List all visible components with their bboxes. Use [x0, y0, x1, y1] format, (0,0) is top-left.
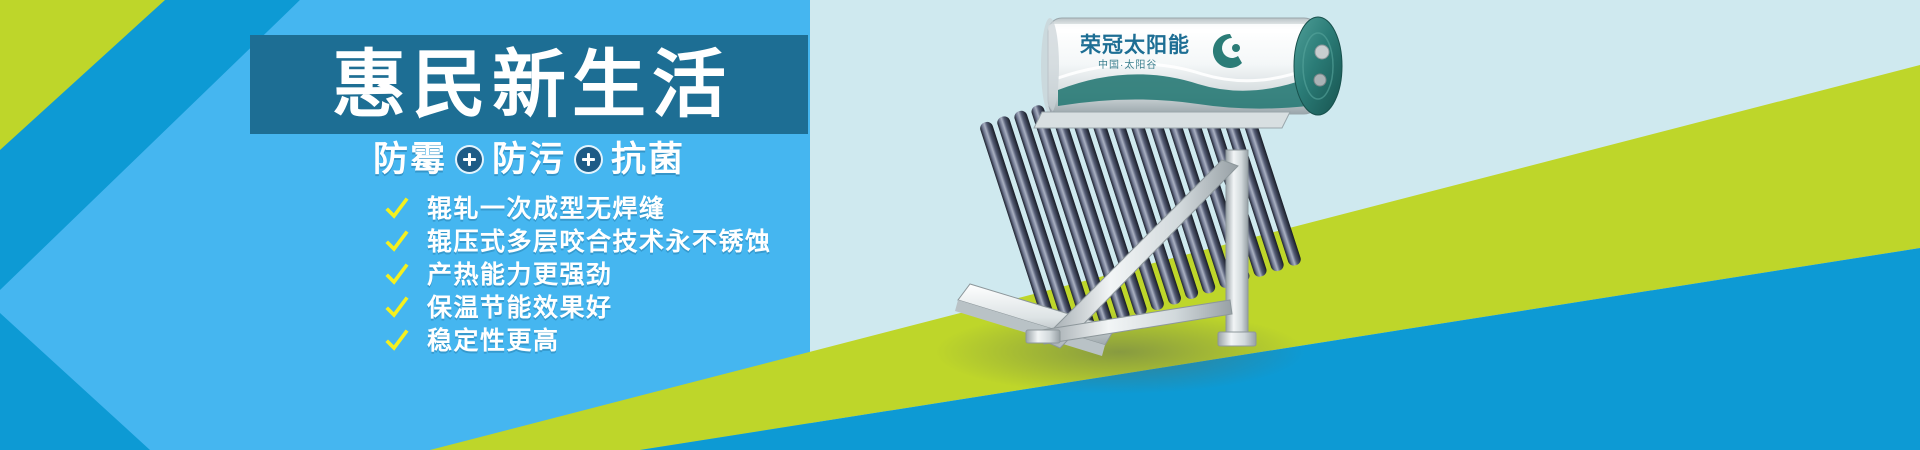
feature-label: 稳定性更高 — [427, 329, 560, 354]
list-item: 辊压式多层咬合技术永不锈蚀 — [385, 226, 772, 258]
promo-banner: 惠民新生活 防霉 防污 抗菌 辊轧一次成型无焊缝 辊压式多层咬合技术永不锈蚀 产… — [0, 0, 1920, 450]
title-panel: 惠民新生活 — [250, 35, 808, 134]
list-item: 保温节能效果好 — [385, 292, 772, 324]
check-icon — [385, 263, 409, 287]
tank-brand-text: 荣冠太阳能 — [1079, 33, 1190, 57]
tank-port-icon — [1315, 45, 1329, 59]
plus-circle-icon — [457, 147, 482, 172]
manifold-strip — [1034, 112, 1290, 128]
subtitle-row: 防霉 防污 抗菌 — [250, 142, 808, 177]
subtitle-word-3: 抗菌 — [611, 142, 685, 177]
check-icon — [385, 230, 409, 254]
page-title: 惠民新生活 — [326, 48, 732, 122]
feature-list: 辊轧一次成型无焊缝 辊压式多层咬合技术永不锈蚀 产热能力更强劲 保温节能效果好 — [385, 193, 772, 358]
check-icon — [385, 329, 409, 353]
water-tank: 荣冠太阳能 中国·太阳谷 — [1041, 17, 1342, 115]
subtitle-word-2: 防污 — [492, 142, 566, 177]
check-icon — [385, 296, 409, 320]
product-image: 荣冠太阳能 中国·太阳谷 — [930, 0, 1490, 450]
plus-circle-icon — [576, 147, 601, 172]
tank-sub-text: 中国·太阳谷 — [1098, 58, 1157, 71]
shape-blue-top-strip — [260, 0, 810, 40]
subtitle-word-1: 防霉 — [373, 142, 447, 177]
tank-end-cap — [1294, 17, 1342, 115]
feature-label: 保温节能效果好 — [427, 296, 613, 321]
feature-label: 辊轧一次成型无焊缝 — [427, 197, 666, 222]
feature-label: 辊压式多层咬合技术永不锈蚀 — [427, 230, 772, 255]
check-icon — [385, 197, 409, 221]
list-item: 产热能力更强劲 — [385, 259, 772, 291]
feature-label: 产热能力更强劲 — [427, 263, 613, 288]
list-item: 辊轧一次成型无焊缝 — [385, 193, 772, 225]
list-item: 稳定性更高 — [385, 325, 772, 357]
